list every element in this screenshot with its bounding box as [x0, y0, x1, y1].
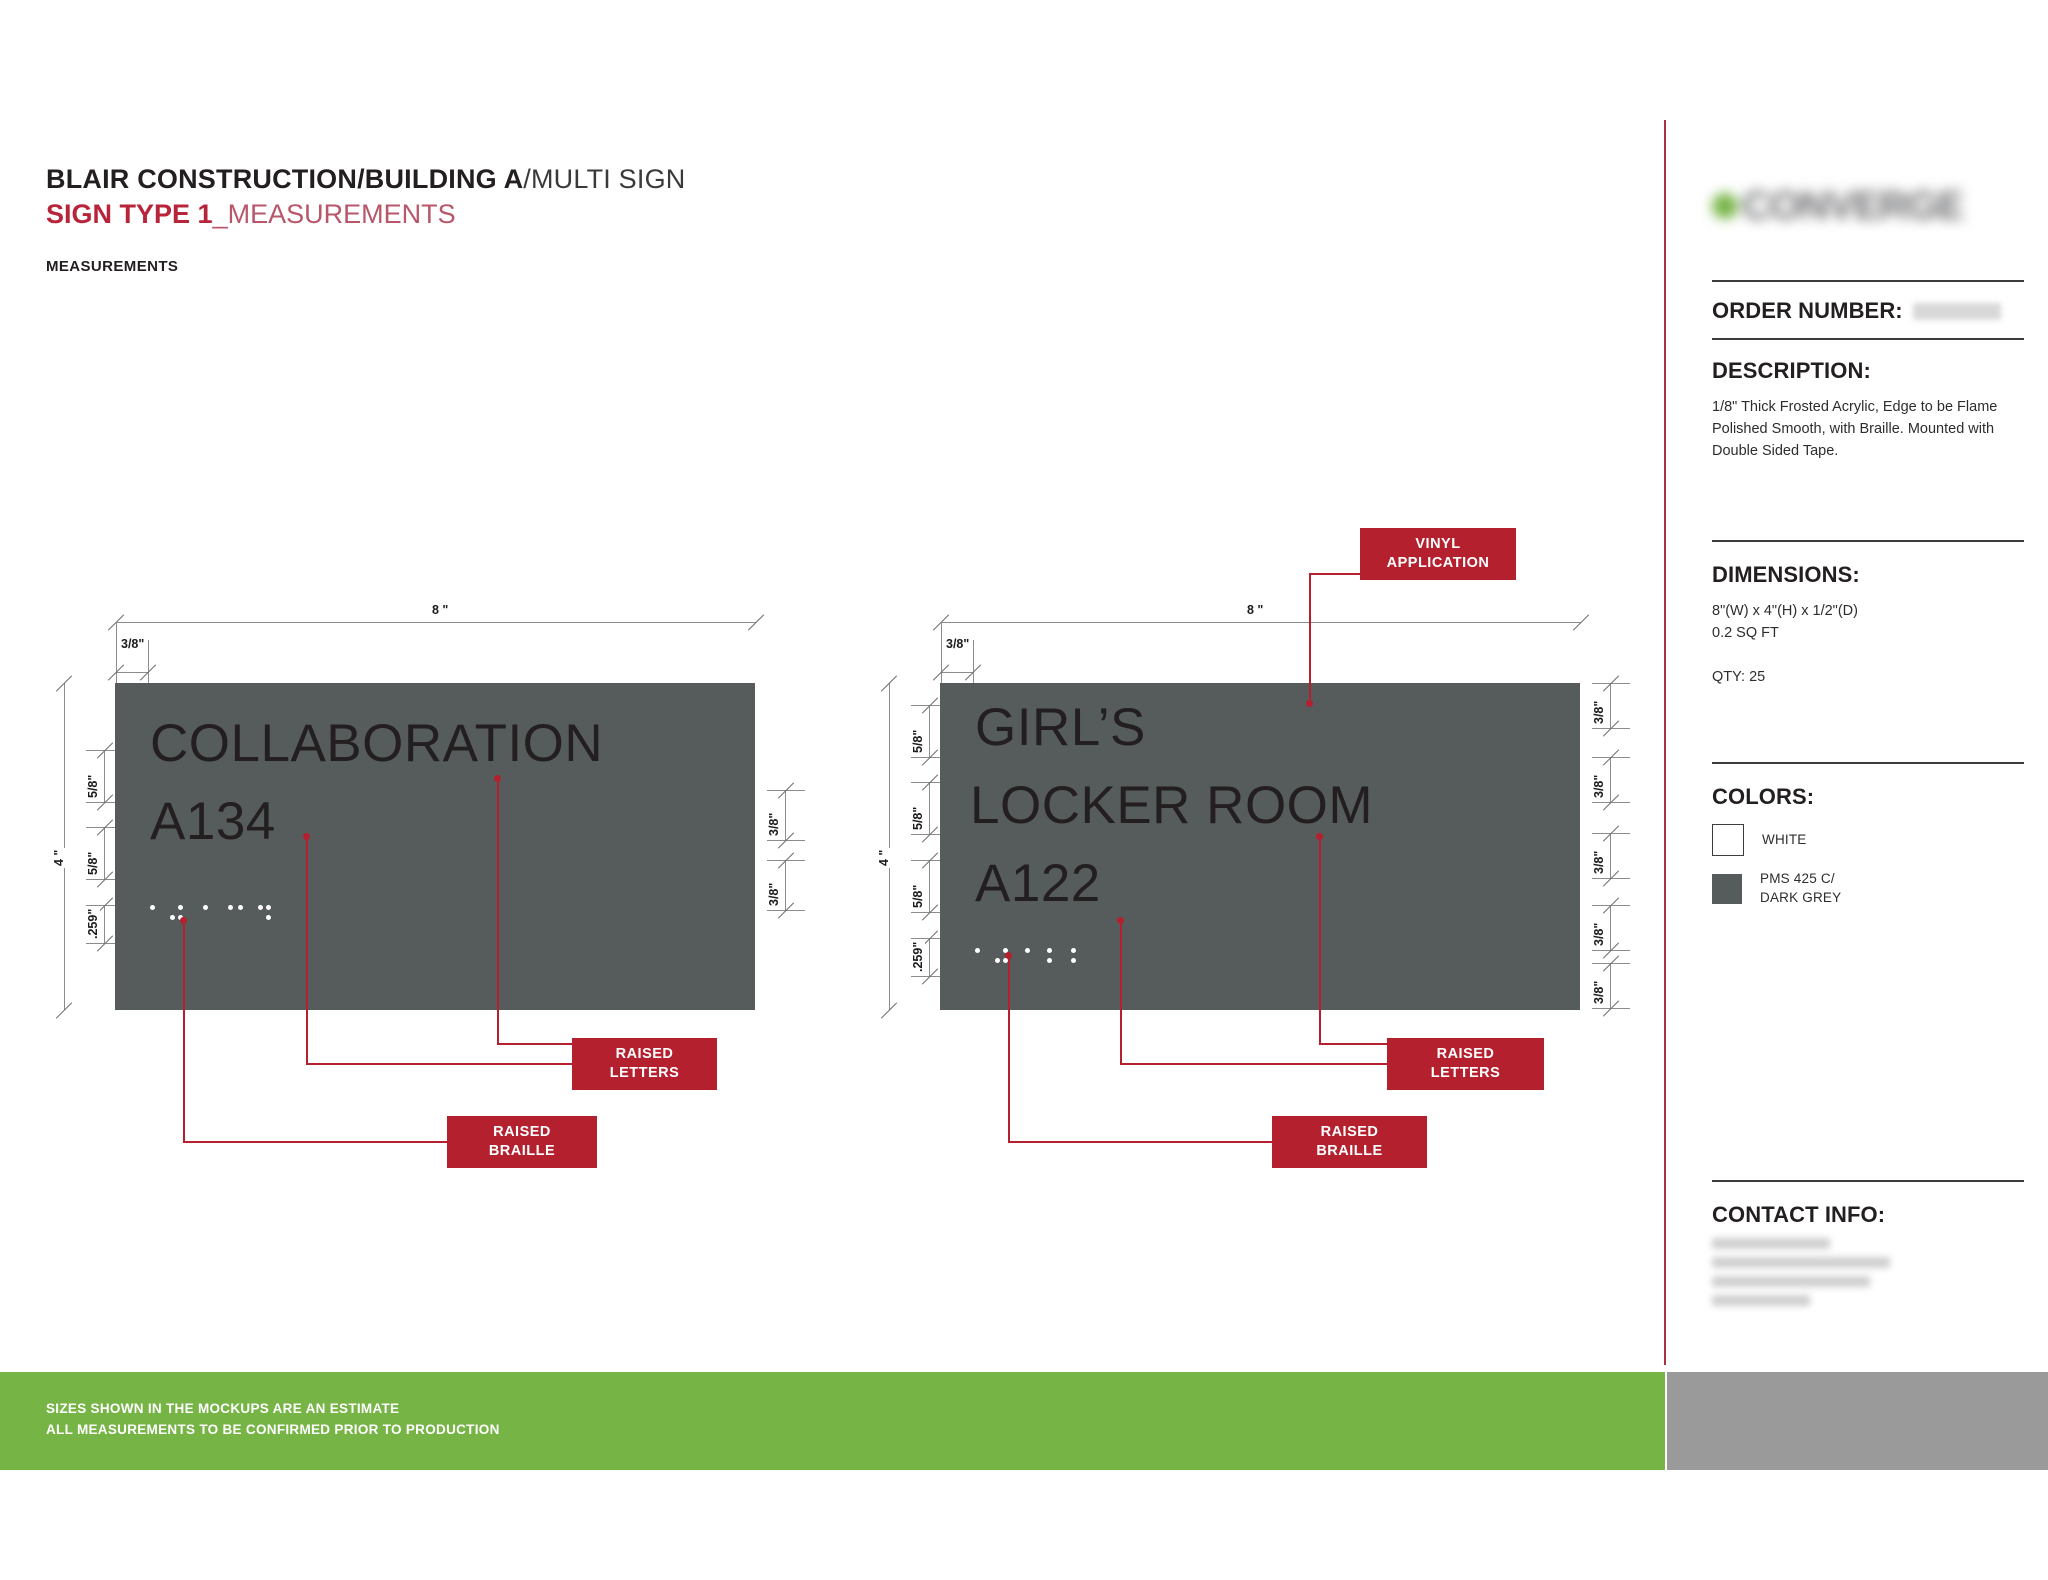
callout-raised-letters-right[interactable]: RAISED LETTERS — [1387, 1038, 1544, 1090]
description-section: DESCRIPTION: 1/8" Thick Frosted Acrylic,… — [1712, 358, 2024, 462]
right-rdim-label: 3/8" — [1592, 979, 1606, 1006]
leader-line — [1319, 1043, 1387, 1045]
left-width-dimline — [116, 622, 756, 623]
contact-info-label: CONTACT INFO: — [1712, 1202, 2024, 1228]
title-sign-type: SIGN TYPE 1 — [46, 199, 213, 229]
left-width-label: 8 " — [430, 603, 450, 617]
callout-text: RAISED LETTERS — [1431, 1045, 1501, 1083]
title-section: _MEASUREMENTS — [213, 199, 456, 229]
left-topmargin-vline2 — [148, 640, 149, 688]
panel-divider — [1664, 120, 1666, 1365]
callout-raised-braille-left[interactable]: RAISED BRAILLE — [447, 1116, 597, 1168]
swatch-label-line1: PMS 425 C/ — [1760, 871, 1835, 886]
dimensions-size: 8"(W) x 4"(H) x 1/2"(D) — [1712, 600, 2024, 622]
right-height-label: 4 " — [877, 848, 891, 868]
footer-line-2: ALL MEASUREMENTS TO BE CONFIRMED PRIOR T… — [46, 1420, 500, 1441]
right-width-label: 8 " — [1245, 603, 1265, 617]
leader-line — [1120, 921, 1122, 1063]
order-number-value — [1913, 303, 2001, 320]
dimensions-qty: QTY: 25 — [1712, 666, 2024, 688]
right-topmargin-hline — [941, 672, 973, 673]
right-rdim-label: 3/8" — [1592, 699, 1606, 726]
right-dim-label: 5/8" — [911, 805, 925, 832]
sign-text-line-1: COLLABORATION — [150, 713, 603, 774]
right-dim4-vline — [929, 938, 930, 976]
logo-dot-icon — [1712, 193, 1738, 219]
page-title: BLAIR CONSTRUCTION/BUILDING A/MULTI SIGN… — [46, 163, 1046, 231]
dimensions-label: DIMENSIONS: — [1712, 562, 2024, 588]
callout-text: RAISED BRAILLE — [1316, 1123, 1382, 1161]
sign-text-line-2: LOCKER ROOM — [970, 775, 1373, 836]
logo-wordmark: CONVERGE — [1742, 184, 1963, 229]
title-line-2: SIGN TYPE 1_MEASUREMENTS — [46, 198, 1046, 231]
right-dim1-vline — [929, 705, 930, 757]
left-dim-label: 5/8" — [86, 773, 100, 800]
divider — [1712, 762, 2024, 764]
leader-line — [497, 779, 499, 1043]
right-dim2-vline — [929, 782, 930, 834]
contact-info-section: CONTACT INFO: — [1712, 1180, 2024, 1314]
left-topmargin-vline — [116, 622, 117, 688]
order-number-label: ORDER NUMBER: — [1712, 298, 1903, 324]
left-height-dimline — [64, 683, 65, 1010]
swatch-chip-white — [1712, 824, 1744, 856]
sign-text-line-3: A122 — [975, 853, 1101, 914]
braille-row-collaboration — [150, 905, 410, 929]
divider — [1712, 338, 2024, 340]
swatch-label-line2: DARK GREY — [1760, 890, 1841, 905]
left-dim2-vline — [104, 827, 105, 879]
left-topmargin-hline — [116, 672, 148, 673]
title-variant: /MULTI SIGN — [523, 164, 685, 194]
section-subtitle: MEASUREMENTS — [46, 258, 178, 275]
color-swatch-white: WHITE — [1712, 824, 2024, 856]
right-topmargin-vline2 — [973, 640, 974, 688]
divider — [1712, 280, 2024, 282]
sign-text-line-2: A134 — [150, 791, 276, 852]
left-dim-label: 5/8" — [86, 850, 100, 877]
swatch-label-white: WHITE — [1762, 831, 1807, 850]
leader-line — [1309, 573, 1360, 575]
footer-grey-band — [1667, 1372, 2048, 1470]
leader-line — [497, 1043, 572, 1045]
callout-raised-letters-left[interactable]: RAISED LETTERS — [572, 1038, 717, 1090]
right-dim-label: .259" — [911, 940, 925, 974]
colors-section: COLORS: WHITE PMS 425 C/ DARK GREY — [1712, 762, 2024, 907]
description-text: 1/8" Thick Frosted Acrylic, Edge to be F… — [1712, 396, 2024, 462]
right-rdim4-vline — [1610, 905, 1611, 950]
leader-line — [306, 1063, 572, 1065]
divider — [1712, 540, 2024, 542]
dimensions-area: 0.2 SQ FT — [1712, 622, 2024, 644]
left-topmargin-label: 3/8" — [119, 637, 146, 651]
left-dim3-vline — [104, 905, 105, 943]
leader-line — [1319, 837, 1321, 1043]
right-topmargin-label: 3/8" — [944, 637, 971, 651]
sign-text-line-1: GIRL’S — [975, 697, 1146, 758]
left-rdim2-vline — [785, 860, 786, 910]
swatch-chip-dark-grey — [1712, 874, 1742, 904]
title-project: BLAIR CONSTRUCTION/BUILDING A — [46, 164, 523, 194]
right-rdim1-vline — [1610, 683, 1611, 728]
left-rdim1-vline — [785, 790, 786, 840]
footer-disclaimer: SIZES SHOWN IN THE MOCKUPS ARE AN ESTIMA… — [46, 1399, 500, 1441]
right-height-dimline — [889, 683, 890, 1010]
colors-label: COLORS: — [1712, 784, 2024, 810]
leader-line — [1008, 1141, 1272, 1143]
sign-spec-sheet: BLAIR CONSTRUCTION/BUILDING A/MULTI SIGN… — [0, 0, 2048, 1580]
leader-line — [1120, 1063, 1387, 1065]
divider — [1712, 1180, 2024, 1182]
leader-line — [183, 921, 185, 1142]
leader-line — [183, 1141, 447, 1143]
callout-text: VINYL APPLICATION — [1387, 535, 1490, 573]
converge-logo: CONVERGE — [1712, 180, 2024, 232]
right-rdim-label: 3/8" — [1592, 773, 1606, 800]
left-rdim-label: 3/8" — [767, 881, 781, 908]
right-rdim5-vline — [1610, 963, 1611, 1008]
callout-text: RAISED LETTERS — [610, 1045, 680, 1083]
color-swatch-dark-grey: PMS 425 C/ DARK GREY — [1712, 870, 2024, 907]
right-width-dimline — [941, 622, 1581, 623]
right-topmargin-vline — [941, 622, 942, 688]
callout-raised-braille-right[interactable]: RAISED BRAILLE — [1272, 1116, 1427, 1168]
leader-line — [306, 837, 308, 1064]
contact-info-value — [1712, 1238, 2024, 1306]
left-dim1-vline — [104, 750, 105, 802]
dimensions-section: DIMENSIONS: 8"(W) x 4"(H) x 1/2"(D) 0.2 … — [1712, 540, 2024, 688]
footer-line-1: SIZES SHOWN IN THE MOCKUPS ARE AN ESTIMA… — [46, 1399, 500, 1420]
callout-vinyl-application[interactable]: VINYL APPLICATION — [1360, 528, 1516, 580]
right-rdim2-vline — [1610, 757, 1611, 802]
leader-line — [1309, 573, 1311, 703]
right-rdim-label: 3/8" — [1592, 921, 1606, 948]
right-rdim3-vline — [1610, 833, 1611, 878]
left-rdim-label: 3/8" — [767, 811, 781, 838]
callout-text: RAISED BRAILLE — [489, 1123, 555, 1161]
title-line-1: BLAIR CONSTRUCTION/BUILDING A/MULTI SIGN — [46, 163, 1046, 196]
right-rdim-label: 3/8" — [1592, 849, 1606, 876]
leader-line — [1008, 956, 1010, 1141]
left-height-label: 4 " — [52, 848, 66, 868]
sign-plate-girls-locker-room: GIRL’S LOCKER ROOM A122 — [940, 683, 1580, 1010]
order-number-section: ORDER NUMBER: — [1712, 280, 2024, 340]
sign-plate-collaboration: COLLABORATION A134 — [115, 683, 755, 1010]
left-dim-label: .259" — [86, 907, 100, 941]
right-dim-label: 5/8" — [911, 883, 925, 910]
swatch-label-dark-grey: PMS 425 C/ DARK GREY — [1760, 870, 1841, 907]
description-label: DESCRIPTION: — [1712, 358, 2024, 384]
right-dim-label: 5/8" — [911, 728, 925, 755]
right-dim3-vline — [929, 860, 930, 912]
